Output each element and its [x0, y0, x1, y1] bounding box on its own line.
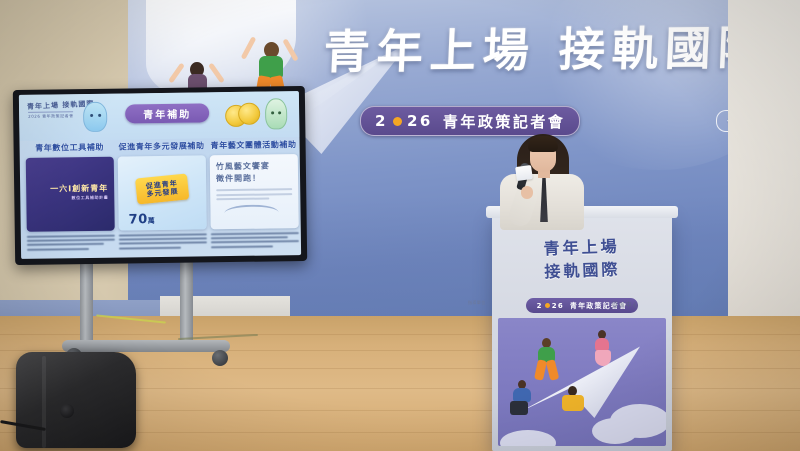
blue-mascot-icon	[83, 102, 107, 132]
badge-label: 青年政策記者會	[443, 111, 566, 132]
backdrop-headline: 青年上場 接軌國際	[323, 12, 728, 82]
speaker-box	[16, 352, 136, 448]
tv-stand-left-column	[80, 262, 93, 346]
amount-unit: 萬	[148, 217, 156, 225]
screenshot-root: 青年上場 接軌國際 2 26 青年政策記者會 青年舞台 青年補助 青年品牌	[0, 0, 800, 451]
coins-icon	[225, 102, 259, 126]
presenter-hand	[521, 186, 533, 199]
column-heading: 青年藝文團體活動補助	[210, 139, 298, 151]
column-bullets	[211, 232, 299, 248]
cloud-shape	[592, 418, 638, 444]
green-mascot-icon	[265, 98, 287, 129]
cloud-shape	[500, 430, 556, 446]
amount-value: 70	[129, 212, 148, 227]
slide-title-pill: 青年補助	[125, 103, 209, 123]
podium-badge-dot-icon	[545, 303, 550, 308]
badge-orange-dot-icon	[393, 117, 402, 126]
column-card-image: 促進青年 多元發展 70萬	[118, 155, 207, 230]
slide-column-multi-development: 促進青年多元發展補助 促進青年 多元發展 70萬	[118, 140, 208, 251]
podium-title: 青年上場 接軌國際	[491, 233, 673, 286]
podium-title-line2: 接軌國際	[492, 256, 673, 285]
podium-badge-prefix: 2	[537, 302, 543, 310]
podium: 青年上場 接軌國際 2 26 青年政策記者會	[492, 214, 672, 451]
card-badge-line2: 多元發展	[146, 187, 179, 198]
column-bullets	[119, 233, 207, 249]
column-bullets	[27, 235, 115, 251]
television[interactable]: 青年上場 接軌國際 2026 青年政策記者會 青年補助 青年數位工具補助 一六I…	[13, 86, 307, 265]
tv-stand-caster	[212, 350, 228, 366]
bridge-illustration	[224, 204, 278, 221]
microphone-flag	[515, 165, 533, 181]
backdrop-pill-youth-stage: 青年舞台	[716, 110, 728, 132]
tv-stand-base	[62, 340, 230, 352]
card-caption: 竹風藝文饗宴 徵件開跑！	[216, 160, 270, 184]
card-caption: 一六I創新青年	[50, 183, 108, 195]
badge-year-prefix: 2	[375, 112, 388, 130]
credit-right-label: 暨展中心	[612, 300, 639, 309]
backdrop-year-badge: 2 26 青年政策記者會	[360, 106, 580, 136]
column-card-image: 竹風藝文饗宴 徵件開跑！	[210, 154, 299, 229]
presenter-hair-front	[528, 136, 558, 152]
card-badge: 促進青年 多元發展	[135, 173, 189, 204]
card-amount: 70萬	[129, 212, 156, 227]
slide-title: 青年補助	[143, 106, 191, 122]
podium-badge-suffix: 26	[552, 302, 564, 310]
badge-year-suffix: 26	[407, 112, 433, 130]
slide-column-digital-tools: 青年數位工具補助 一六I創新青年 數位工具補助計畫	[26, 142, 116, 253]
credit-left-label: 指導單位	[468, 300, 486, 306]
slide-column-arts-groups: 青年藝文團體活動補助 竹風藝文饗宴 徵件開跑！	[210, 139, 300, 250]
pill-label: 青年舞台	[727, 114, 728, 129]
column-heading: 青年數位工具補助	[26, 142, 114, 154]
column-card-image: 一六I創新青年 數位工具補助計畫	[26, 157, 115, 232]
card-body-lines	[216, 188, 292, 203]
slide-header: 青年上場 接軌國際 2026 青年政策記者會 青年補助	[19, 91, 300, 141]
column-heading: 促進青年多元發展補助	[118, 140, 206, 152]
podium-illustration	[498, 318, 666, 446]
tv-stand-right-column	[180, 262, 193, 346]
tv-screen[interactable]: 青年上場 接軌國際 2026 青年政策記者會 青年補助 青年數位工具補助 一六I…	[19, 91, 301, 259]
slide-logo-subtext: 2026 青年政策記者會	[28, 111, 74, 120]
card-subcaption: 數位工具補助計畫	[71, 195, 108, 202]
